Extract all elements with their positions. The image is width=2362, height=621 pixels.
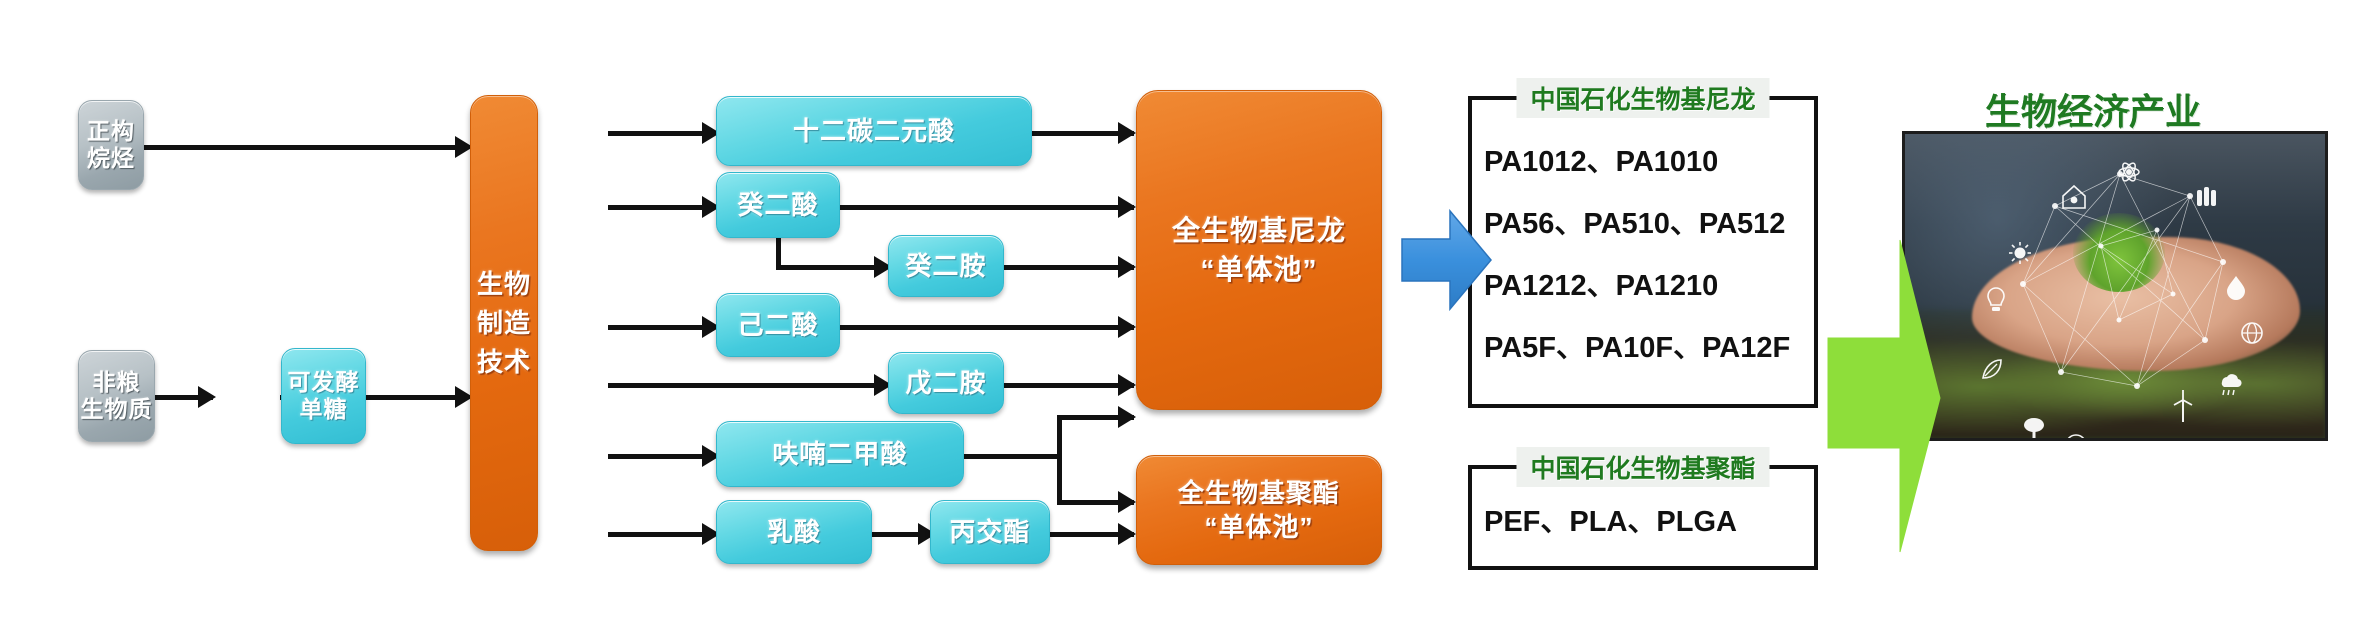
connector-core-to-sebacic xyxy=(608,205,714,210)
wind-turbine-icon xyxy=(2174,390,2192,422)
node-dodecanedioic-acid-label: 十二碳二元酸 xyxy=(793,116,955,147)
bio-nylon-line-1: PA1012、PA1010 xyxy=(1484,138,1804,180)
node-non-grain-biomass[interactable]: 非粮 生物质 xyxy=(78,350,155,442)
bio-economy-photo xyxy=(1902,131,2328,441)
green-block-arrow xyxy=(1824,230,1944,560)
node-non-grain-biomass-line2: 生物质 xyxy=(81,396,153,423)
connector-fdca-out xyxy=(962,454,1062,459)
connector-alkane-to-core xyxy=(144,145,466,150)
arrowhead-biomass-to-sugar xyxy=(198,386,216,408)
node-lactide[interactable]: 丙交酯 xyxy=(930,500,1050,564)
arrowhead-decanediamine-to-nylon-pool xyxy=(1118,256,1136,278)
node-pentanediamine[interactable]: 戊二胺 xyxy=(888,352,1004,414)
photo-network-overlay xyxy=(1905,134,2325,438)
lightbulb-icon xyxy=(1988,288,2004,311)
node-decanediamine[interactable]: 癸二胺 xyxy=(888,235,1004,297)
node-fermentable-sugar[interactable]: 可发酵 单糖 xyxy=(281,348,366,444)
connector-pentanediamine-to-nylon-pool xyxy=(1002,383,1134,388)
node-n-alkane-line1: 正构 xyxy=(87,118,135,145)
bracket-lines-bio-nylon: PA1012、PA1010 PA56、PA510、PA512 PA1212、PA… xyxy=(1484,106,1804,398)
arrowhead-adipic-to-nylon-pool xyxy=(1118,316,1136,338)
sun-icon xyxy=(2009,242,2031,264)
blue-block-arrow xyxy=(1398,205,1494,315)
water-drop-icon xyxy=(2227,276,2245,300)
node-fermentable-sugar-line1: 可发酵 xyxy=(288,369,360,396)
node-sebacic-acid-label: 癸二酸 xyxy=(737,190,818,221)
bio-nylon-line-3: PA1212、PA1210 xyxy=(1484,262,1804,304)
polyester-pool-line1: 全生物基聚酯 xyxy=(1178,476,1340,510)
connector-core-to-fdca xyxy=(608,454,714,459)
node-fermentable-sugar-line2: 单糖 xyxy=(300,396,348,423)
leaf-icon xyxy=(1983,360,2001,378)
node-sebacic-acid[interactable]: 癸二酸 xyxy=(716,172,840,238)
node-furandicarboxylic-acid[interactable]: 呋喃二甲酸 xyxy=(716,421,964,487)
core-line-3: 技术 xyxy=(477,343,531,382)
node-non-grain-biomass-line1: 非粮 xyxy=(93,369,141,396)
connector-core-to-pentanediamine xyxy=(608,383,886,388)
node-polyester-monomer-pool[interactable]: 全生物基聚酯 “单体池” xyxy=(1136,455,1382,565)
node-adipic-acid-label: 己二酸 xyxy=(737,310,818,341)
outcome-title: 生物经济产业 xyxy=(1985,83,2201,135)
nylon-pool-line2: “单体池” xyxy=(1200,250,1317,289)
arrowhead-fdca-to-polyester-pool xyxy=(1118,491,1136,513)
node-lactide-label: 丙交酯 xyxy=(949,517,1030,548)
core-line-2: 制造 xyxy=(477,304,531,343)
bracket-lines-bio-polyester: PEF、PLA、PLGA xyxy=(1484,473,1804,565)
node-pentanediamine-label: 戊二胺 xyxy=(905,368,986,399)
arrowhead-sebacic-to-nylon-pool xyxy=(1118,196,1136,218)
arrowhead-fdca-to-nylon-pool xyxy=(1118,406,1136,428)
polyester-pool-line2: “单体池” xyxy=(1204,510,1313,544)
node-n-alkane[interactable]: 正构 烷烃 xyxy=(78,100,144,190)
connector-core-to-adipic xyxy=(608,325,714,330)
connector-sebacic-to-nylon-pool xyxy=(838,205,1134,210)
node-furandicarboxylic-acid-label: 呋喃二甲酸 xyxy=(772,439,907,470)
core-line-1: 生物 xyxy=(477,265,531,304)
bio-nylon-line-2: PA56、PA510、PA512 xyxy=(1484,200,1804,242)
tree-icon xyxy=(2024,418,2044,438)
connector-decanediamine-to-nylon-pool xyxy=(1002,265,1134,270)
node-n-alkane-line2: 烷烃 xyxy=(87,145,135,172)
node-nylon-monomer-pool[interactable]: 全生物基尼龙 “单体池” xyxy=(1136,90,1382,410)
node-bio-manufacturing-technology[interactable]: 生物 制造 技术 xyxy=(470,95,538,551)
connector-core-to-lactic xyxy=(608,532,714,537)
node-decanediamine-label: 癸二胺 xyxy=(905,251,986,282)
arrowhead-lactide-to-polyester-pool xyxy=(1118,523,1136,545)
node-lactic-acid-label: 乳酸 xyxy=(767,517,821,548)
node-lactic-acid[interactable]: 乳酸 xyxy=(716,500,872,564)
globe-icon xyxy=(2242,323,2262,343)
cloud-rain-icon xyxy=(2222,374,2242,395)
flow-diagram-canvas: 正构 烷烃 非粮 生物质 可发酵 单糖 生物 制造 技术 十二碳二元酸 癸二酸 … xyxy=(0,0,2362,621)
nylon-pool-line1: 全生物基尼龙 xyxy=(1172,211,1346,250)
bio-polyester-line-1: PEF、PLA、PLGA xyxy=(1484,498,1804,540)
node-adipic-acid[interactable]: 己二酸 xyxy=(716,293,840,357)
connector-adipic-to-nylon-pool xyxy=(838,325,1134,330)
bio-nylon-line-4: PA5F、PA10F、PA12F xyxy=(1484,324,1804,366)
eco-circle-icon xyxy=(2066,435,2086,438)
node-dodecanedioic-acid[interactable]: 十二碳二元酸 xyxy=(716,96,1032,166)
factory-icon xyxy=(2197,187,2216,206)
connector-sebacic-to-decanediamine xyxy=(776,265,886,270)
arrowhead-dodecanedioic-to-nylon-pool xyxy=(1118,122,1136,144)
arrowhead-pentanediamine-to-nylon-pool xyxy=(1118,374,1136,396)
connector-core-to-dodecanedioic xyxy=(608,131,714,136)
house-icon xyxy=(2063,186,2085,208)
connector-fdca-riser xyxy=(1057,415,1062,505)
